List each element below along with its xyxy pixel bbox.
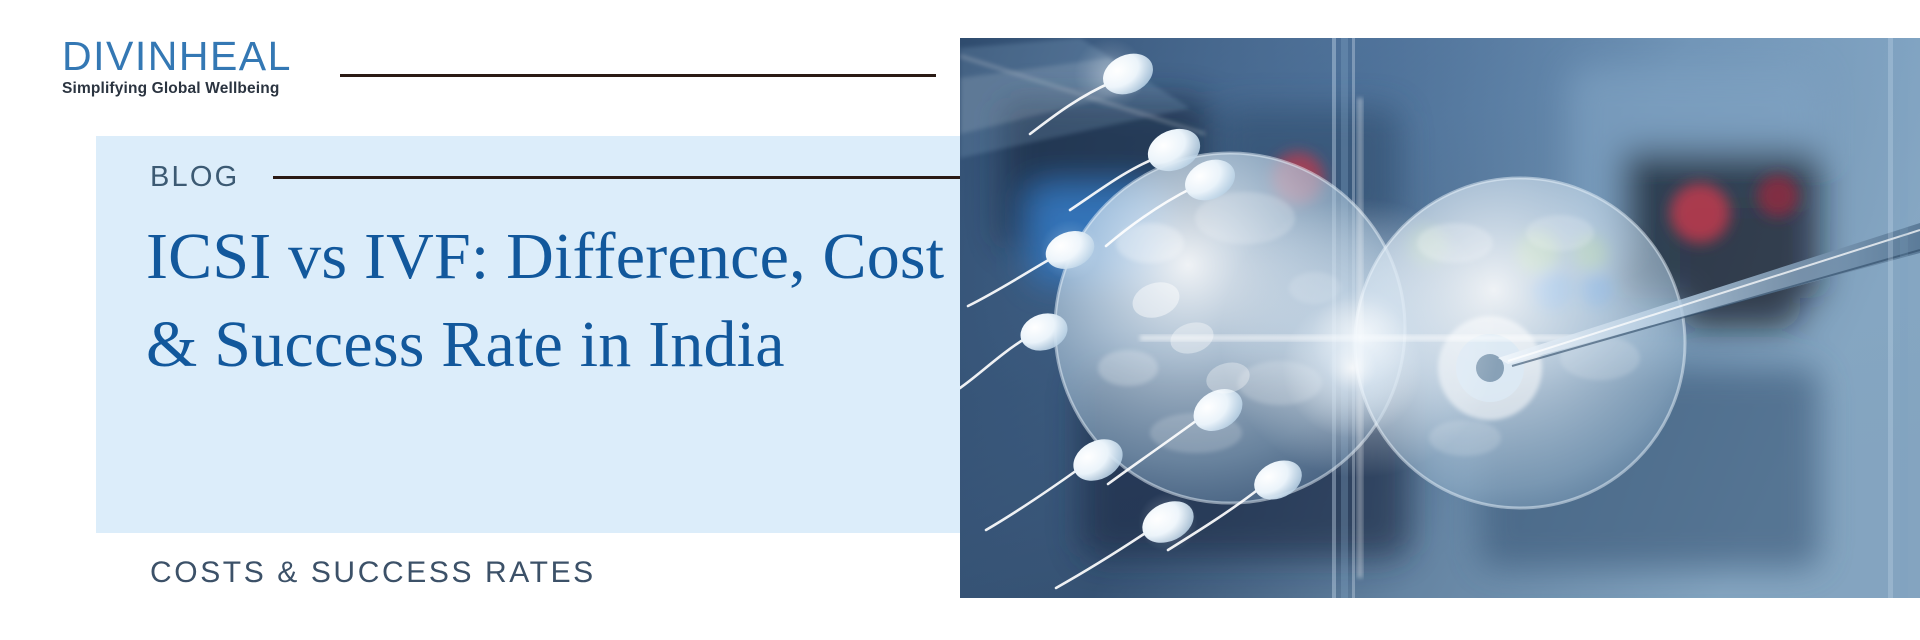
blog-kicker-label: BLOG [150,161,239,194]
brand-name: DIVINHEAL [62,34,322,78]
brand-logo[interactable]: DIVINHEAL Simplifying Global Wellbeing [62,34,322,98]
brand-tagline: Simplifying Global Wellbeing [62,80,322,98]
kicker-row: BLOG [150,161,1025,194]
fertilization-illustration [960,38,1920,598]
hero-image [960,38,1920,598]
header-divider-rule [340,74,936,77]
blog-banner: DIVINHEAL Simplifying Global Wellbeing B… [0,0,1920,640]
headline-card: BLOG ICSI vs IVF: Difference, Cost & Suc… [96,136,1025,533]
page-title: ICSI vs IVF: Difference, Cost & Success … [146,213,976,389]
banner-subcaption: COSTS & SUCCESS RATES [150,556,596,590]
kicker-divider-rule [273,176,1025,179]
